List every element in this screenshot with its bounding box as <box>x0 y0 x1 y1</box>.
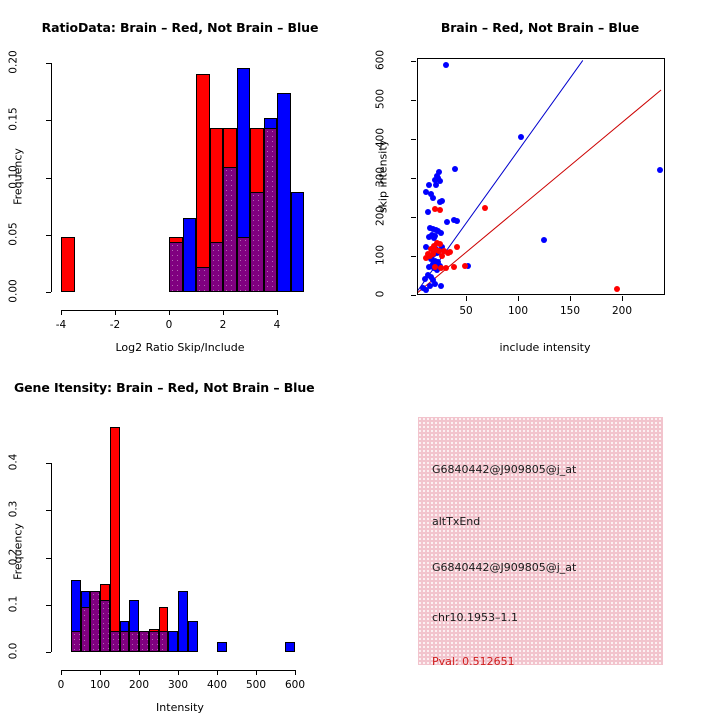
gene-bar-overlap <box>100 600 110 652</box>
ratio-histogram-x-tick-label: -4 <box>31 319 91 331</box>
ratio-histogram-x-tick-label: 4 <box>247 319 307 331</box>
info-line-3: chr10.1953–1.1 <box>432 611 518 624</box>
scatter-point-blue <box>454 218 460 224</box>
gene-bar-overlap <box>149 631 159 652</box>
ratio-bar-overlap <box>196 267 210 292</box>
ratio-histogram-x-tick <box>115 310 116 315</box>
scatter-point-blue <box>426 182 432 188</box>
scatter-point-red <box>482 205 488 211</box>
ratio-bar-overlap <box>169 242 183 292</box>
ratio-bar-red <box>196 74 210 292</box>
gene-bar-red <box>110 427 120 652</box>
scatter-point-blue <box>425 209 431 215</box>
gene-bar-overlap <box>120 631 130 652</box>
ratio-histogram-x-tick-label: 0 <box>139 319 199 331</box>
scatter-y-tick <box>411 100 416 101</box>
scatter-point-blue <box>657 167 663 173</box>
ratio-histogram-y-axis-title: Frequency <box>12 137 25 217</box>
ratio-histogram-y-axis-line <box>51 63 52 292</box>
gene-histogram-y-tick-label: 0.0 <box>8 624 20 679</box>
scatter-x-tick-label: 50 <box>436 305 496 317</box>
scatter-point-blue <box>438 283 444 289</box>
scatter-point-red <box>437 207 443 213</box>
scatter-x-tick <box>466 296 467 301</box>
gene-bar-blue <box>168 631 178 652</box>
gene-bar-blue <box>217 642 227 652</box>
ratio-histogram-y-tick <box>46 120 51 121</box>
scatter-y-tick <box>411 256 416 257</box>
scatter-x-tick <box>518 296 519 301</box>
scatter-point-blue <box>433 182 439 188</box>
ratio-histogram-x-axis-title: Log2 Ratio Skip/Include <box>60 341 300 354</box>
ratio-histogram-y-tick <box>46 292 51 293</box>
panel-gene-intensity-histogram: Gene Itensity: Brain – Red, Not Brain – … <box>0 360 360 720</box>
ratio-histogram-x-tick <box>223 310 224 315</box>
scatter-point-red <box>432 264 438 270</box>
gene-histogram-x-tick <box>217 670 218 675</box>
scatter-point-blue <box>518 134 524 140</box>
gene-histogram-y-tick-label: 0.4 <box>8 435 20 490</box>
info-line-2: G6840442@J909805@j_at <box>432 561 576 574</box>
ratio-histogram-y-tick <box>46 63 51 64</box>
ratio-bar-overlap <box>210 242 224 292</box>
gene-bar-overlap <box>90 591 100 652</box>
scatter-data-layer <box>418 59 664 294</box>
scatter-point-blue <box>430 195 436 201</box>
gene-histogram-x-tick <box>139 670 140 675</box>
ratio-bar-blue <box>291 192 305 292</box>
scatter-x-tick <box>622 296 623 301</box>
scatter-x-tick-label: 200 <box>592 305 652 317</box>
gene-histogram-y-axis-title: Frequency <box>12 512 25 592</box>
gene-histogram-x-tick <box>61 670 62 675</box>
ratio-bar-blue <box>277 93 291 292</box>
gene-histogram-y-tick <box>46 510 51 511</box>
scatter-x-tick-label: 100 <box>488 305 548 317</box>
ratio-bar-overlap <box>237 237 251 292</box>
scatter-point-red <box>454 244 460 250</box>
gene-histogram-y-tick <box>46 558 51 559</box>
scatter-point-blue <box>438 230 444 236</box>
ratio-bar-blue <box>183 218 197 292</box>
scatter-point-blue <box>439 198 445 204</box>
gene-histogram-y-tick <box>46 652 51 653</box>
gene-histogram-x-tick <box>178 670 179 675</box>
scatter-point-blue <box>452 166 458 172</box>
gene-histogram-y-tick <box>46 605 51 606</box>
scatter-plot-area: 501001502000100200300400500600 <box>360 0 720 360</box>
scatter-y-tick <box>411 139 416 140</box>
scatter-point-blue <box>422 276 428 282</box>
scatter-y-tick-label: 600 <box>375 33 387 88</box>
gene-bar-overlap <box>129 631 139 652</box>
gene-bar-blue <box>178 591 188 652</box>
gene-bar-overlap <box>110 631 120 652</box>
ratio-histogram-x-tick <box>277 310 278 315</box>
gene-bar-overlap <box>81 607 91 652</box>
gene-bar-overlap <box>139 631 149 652</box>
gene-histogram-x-axis-title: Intensity <box>60 701 300 714</box>
gene-bar-overlap <box>71 631 81 652</box>
scatter-y-tick <box>411 295 416 296</box>
ratio-bar-red <box>61 237 75 292</box>
ratio-histogram-y-tick <box>46 235 51 236</box>
ratio-histogram-y-tick-label: 0.20 <box>8 35 20 90</box>
gene-histogram-x-tick <box>256 670 257 675</box>
gene-histogram-x-tick-label: 600 <box>265 679 325 691</box>
ratio-histogram-x-tick <box>169 310 170 315</box>
ratio-histogram-x-tick-label: 2 <box>193 319 253 331</box>
scatter-x-tick-label: 150 <box>540 305 600 317</box>
scatter-point-blue <box>423 287 429 293</box>
scatter-y-tick <box>411 217 416 218</box>
gene-histogram-x-tick <box>100 670 101 675</box>
gene-bar-overlap <box>159 631 169 652</box>
gene-bar-blue <box>188 621 198 652</box>
scatter-y-tick <box>411 61 416 62</box>
gene-info-panel: G6840442@J909805@j_ataltTxEndG6840442@J9… <box>418 417 663 665</box>
scatter-point-red <box>614 286 620 292</box>
info-line-1: altTxEnd <box>432 515 480 528</box>
scatter-x-axis-title: include intensity <box>420 341 670 354</box>
scatter-point-red <box>439 253 445 259</box>
info-pval-line: Pval: 0.512651 <box>432 655 515 668</box>
ratio-histogram-x-tick <box>61 310 62 315</box>
gene-histogram-plot-area: 01002003004005006000.00.10.20.30.4 <box>0 360 360 720</box>
scatter-point-blue <box>541 237 547 243</box>
scatter-x-tick <box>570 296 571 301</box>
scatter-point-red <box>451 264 457 270</box>
ratio-histogram-plot-area: -4-20240.000.050.100.150.20 <box>0 0 360 360</box>
ratio-histogram-x-tick-label: -2 <box>85 319 145 331</box>
gene-histogram-y-axis-line <box>51 463 52 652</box>
panel-ratio-histogram: RatioData: Brain – Red, Not Brain – Blue… <box>0 0 360 360</box>
scatter-point-blue <box>444 219 450 225</box>
scatter-point-blue <box>443 62 449 68</box>
scatter-y-tick <box>411 178 416 179</box>
ratio-bar-overlap <box>250 192 264 292</box>
scatter-point-blue <box>432 281 438 287</box>
ratio-histogram-y-tick <box>46 178 51 179</box>
ratio-bar-overlap <box>223 167 237 292</box>
gene-bar-blue <box>285 642 295 652</box>
panel-intensity-scatter: Brain – Red, Not Brain – Blue 5010015020… <box>360 0 720 360</box>
gene-histogram-x-tick <box>295 670 296 675</box>
info-line-0: G6840442@J909805@j_at <box>432 463 576 476</box>
scatter-point-red <box>443 265 449 271</box>
scatter-y-axis-title: skip intensity <box>377 132 390 222</box>
ratio-bar-overlap <box>264 128 278 292</box>
ratio-histogram-y-tick-label: 0.00 <box>8 264 20 319</box>
gene-histogram-y-tick <box>46 463 51 464</box>
